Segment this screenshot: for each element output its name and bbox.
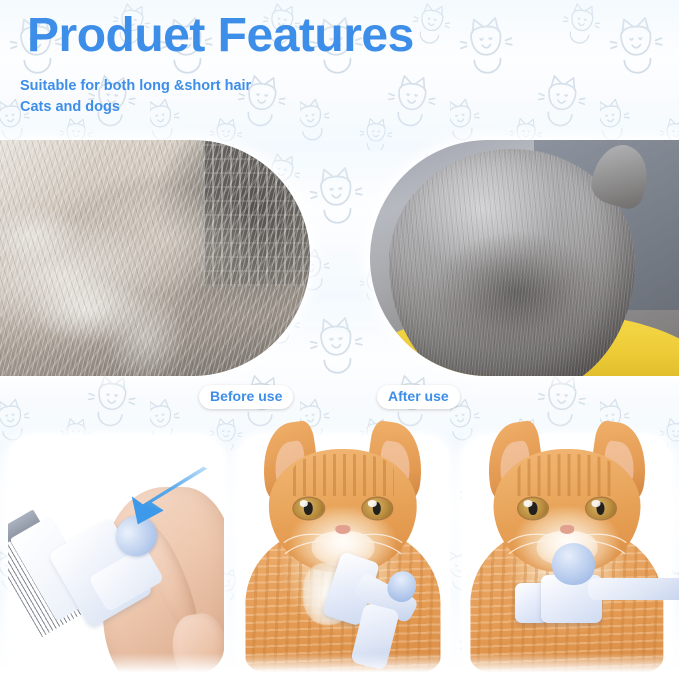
blue-arrow-icon bbox=[112, 461, 211, 542]
subtitle-line-1: Suitable for both long &short hair bbox=[20, 76, 251, 97]
grooming-brush bbox=[322, 552, 441, 670]
page-title: Produet Features bbox=[27, 8, 414, 63]
cat-eye-left bbox=[518, 498, 547, 519]
before-fur-image bbox=[0, 140, 310, 376]
cat-eye-left bbox=[294, 498, 324, 519]
page-subtitle: Suitable for both long &short hair Cats … bbox=[20, 76, 251, 118]
tabby-cat bbox=[237, 418, 449, 675]
card-hand-pressing-button bbox=[8, 435, 224, 673]
before-use-photo bbox=[0, 140, 310, 376]
brush-release-button bbox=[552, 543, 595, 585]
after-use-photo bbox=[370, 140, 679, 376]
card-brushing-cat-front bbox=[237, 435, 449, 673]
status-badge-before-use: Before use bbox=[199, 385, 293, 409]
subtitle-line-2: Cats and dogs bbox=[20, 97, 251, 118]
cat-eye-right bbox=[586, 498, 615, 519]
grooming-brush bbox=[508, 557, 679, 634]
feature-card-row bbox=[0, 420, 679, 679]
after-fur-image bbox=[370, 140, 679, 376]
product-features-infographic: Produet Features Suitable for both long … bbox=[0, 0, 679, 679]
status-badge-after-use: After use bbox=[377, 385, 460, 409]
card-brushing-cat-angle bbox=[462, 435, 672, 673]
cat-forehead-stripes bbox=[517, 454, 617, 496]
cat-eye-right bbox=[362, 498, 392, 519]
brush-handle bbox=[588, 578, 679, 600]
fur-strand-texture bbox=[0, 140, 310, 376]
tabby-cat bbox=[462, 418, 672, 675]
header: Produet Features Suitable for both long … bbox=[0, 0, 679, 132]
cat-forehead-stripes bbox=[293, 454, 394, 496]
before-after-comparison: Before use After use bbox=[0, 140, 679, 376]
